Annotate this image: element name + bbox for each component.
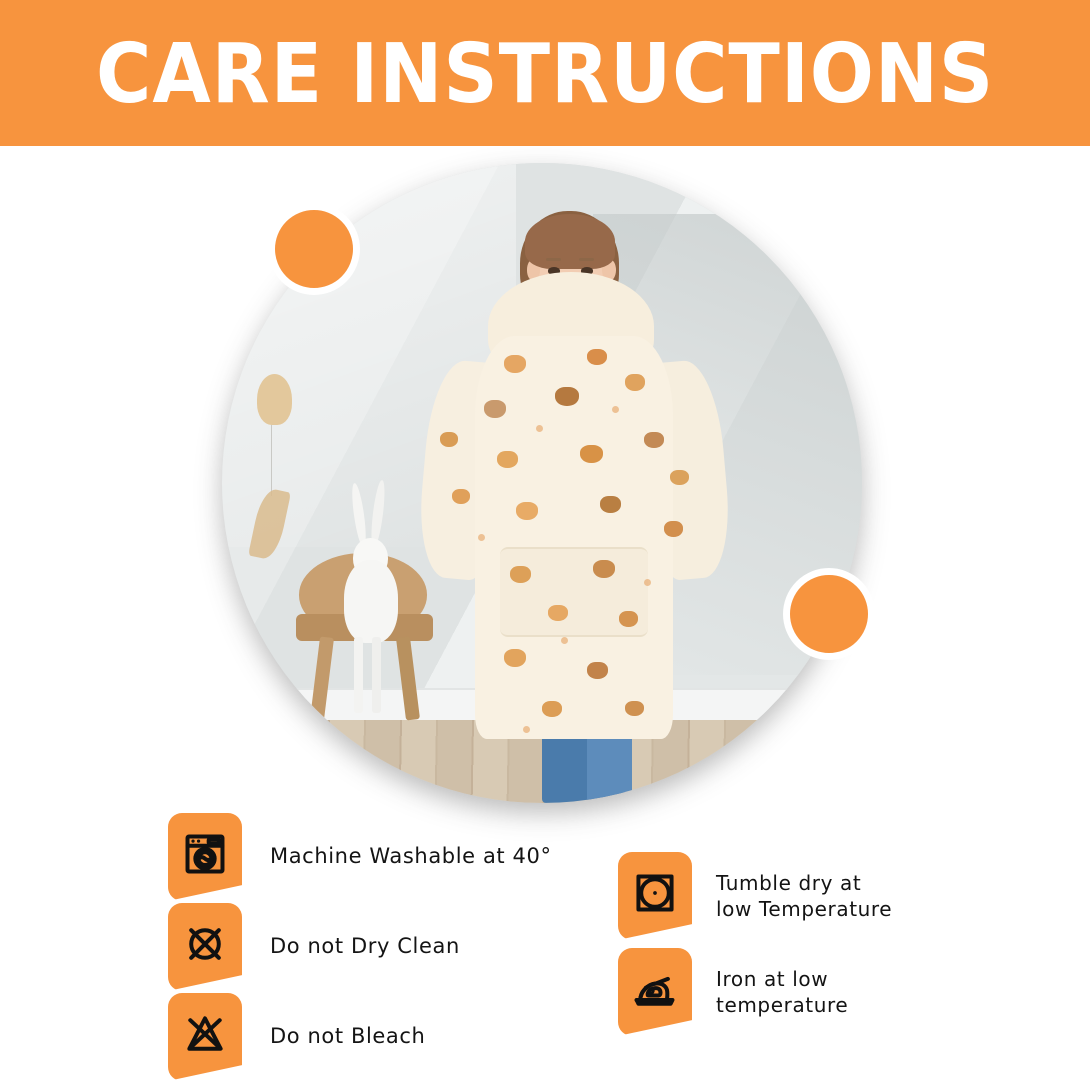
care-item-no-dry-clean: Do not Dry Clean xyxy=(168,902,598,992)
hair-front xyxy=(525,214,615,269)
care-item-no-bleach: Do not Bleach xyxy=(168,992,598,1082)
iron-badge xyxy=(618,948,692,1036)
decorative-circle-bottom-right xyxy=(783,568,875,660)
care-label-iron: Iron at low temperature xyxy=(716,966,848,1019)
eyebrow-right xyxy=(579,258,594,261)
tumble-dry-badge xyxy=(618,852,692,940)
page-title: CARE INSTRUCTIONS xyxy=(96,30,994,116)
care-label-no-dry-clean: Do not Dry Clean xyxy=(270,933,460,961)
care-item-tumble-dry: Tumble dry at low Temperature xyxy=(618,848,1038,944)
care-label-tumble-dry: Tumble dry at low Temperature xyxy=(716,870,892,923)
hoodie-body xyxy=(475,336,673,739)
header-banner: CARE INSTRUCTIONS xyxy=(0,0,1090,146)
washing-machine-icon xyxy=(182,831,228,877)
care-item-machine-wash: Machine Washable at 40° xyxy=(168,812,598,902)
no-dry-clean-icon xyxy=(182,921,228,967)
tumble-dry-low-icon xyxy=(632,870,678,916)
iron-low-icon xyxy=(632,966,678,1012)
washing-machine-badge xyxy=(168,813,242,901)
care-label-no-bleach: Do not Bleach xyxy=(270,1023,425,1051)
eyebrow-left xyxy=(546,258,561,261)
care-label-machine-wash: Machine Washable at 40° xyxy=(270,843,552,871)
hoodie-pocket xyxy=(500,547,647,637)
decorative-circle-top-left xyxy=(268,203,360,295)
no-bleach-badge xyxy=(168,993,242,1081)
care-item-iron: Iron at low temperature xyxy=(618,944,1038,1040)
care-instructions-right-column: Tumble dry at low Temperature Iron at lo… xyxy=(618,848,1038,1040)
care-instructions-left-column: Machine Washable at 40° Do not Dry Clean xyxy=(168,812,598,1082)
no-bleach-icon xyxy=(182,1011,228,1057)
no-dry-clean-badge xyxy=(168,903,242,991)
care-instructions-page: CARE INSTRUCTIONS xyxy=(0,0,1090,1090)
